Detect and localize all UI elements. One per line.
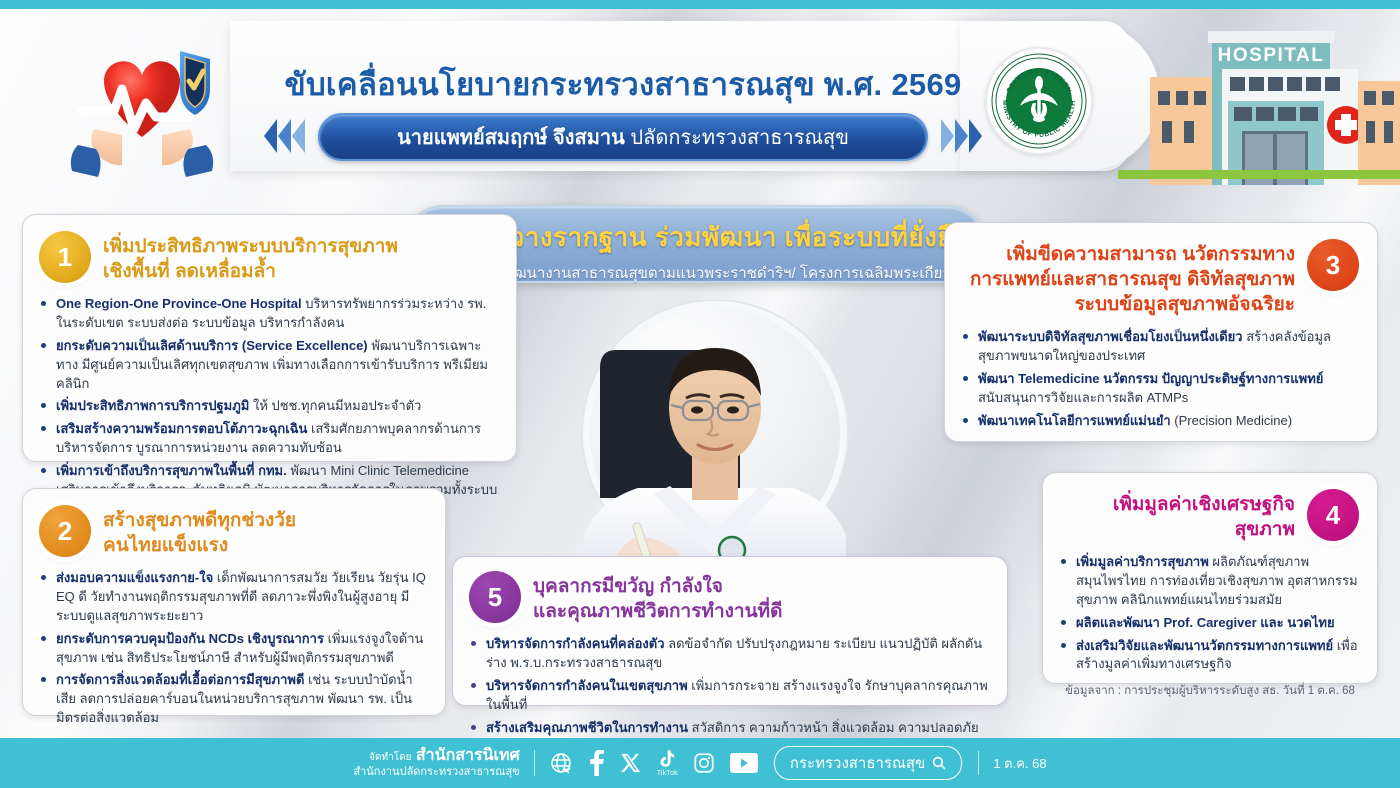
list-item: พัฒนาระบบดิจิทัลสุขภาพเชื่อมโยงเป็นหนึ่ง… (961, 328, 1359, 366)
card-number-badge-4: 4 (1307, 489, 1359, 541)
card-number-badge-2: 2 (39, 505, 91, 557)
chevron-left-icon (264, 119, 305, 153)
card-title-line: ระบบข้อมูลสุขภาพอัจฉริยะ (970, 292, 1295, 317)
card-title-3: เพิ่มขีดความสามารถ นวัตกรรมทาง การแพทย์แ… (970, 239, 1295, 317)
list-item: One Region-One Province-One Hospital บริ… (39, 295, 498, 333)
list-item: ยกระดับความเป็นเลิศด้านบริการ (Service E… (39, 337, 498, 394)
infographic-poster: ขับเคลื่อนนโยบายกระทรวงสาธารณสุข พ.ศ. 25… (0, 0, 1400, 788)
footer-org-sub: สำนักงานปลัดกระทรวงสาธารณสุข (353, 766, 519, 780)
list-item: ผลิตและพัฒนา Prof. Caregiver และ นวดไทย (1059, 614, 1359, 633)
youtube-icon[interactable] (730, 753, 758, 773)
list-item: พัฒนา Telemedicine นวัตกรรม ปัญญาประดิษฐ… (961, 370, 1359, 408)
card-header: 4 เพิ่มมูลค่าเชิงเศรษฐกิจสุขภาพ (1059, 489, 1359, 542)
footer-date: 1 ต.ค. 68 (993, 753, 1046, 774)
policy-card-1: 1 เพิ่มประสิทธิภาพระบบบริการสุขภาพ เชิงพ… (22, 214, 517, 462)
list-item: เสริมสร้างความพร้อมการตอบโต้ภาวะฉุกเฉิน … (39, 420, 498, 458)
card-title-5: บุคลากรมีขวัญ กำลังใจ และคุณภาพชีวิตการท… (533, 571, 782, 624)
card-bullet-list-3: พัฒนาระบบดิจิทัลสุขภาพเชื่อมโยงเป็นหนึ่ง… (961, 328, 1359, 430)
card-title-4: เพิ่มมูลค่าเชิงเศรษฐกิจสุขภาพ (1059, 489, 1295, 542)
speaker-pill: นายแพทย์สมฤกษ์ จึงสมาน ปลัดกระทรวงสาธารณ… (318, 113, 928, 161)
card-bullet-list-4: เพิ่มมูลค่าบริการสุขภาพ ผลิตภัณฑ์สุขภาพ … (1059, 553, 1359, 674)
search-pill-text: กระทรวงสาธารณสุข (790, 751, 925, 775)
instagram-icon[interactable] (693, 752, 715, 774)
card-title-line: สร้างสุขภาพดีทุกช่วงวัย (103, 508, 296, 533)
card-title-line: เพิ่มขีดความสามารถ นวัตกรรมทาง (970, 242, 1295, 267)
hospital-sign-text: HOSPITAL (1218, 45, 1325, 66)
policy-card-3: 3 เพิ่มขีดความสามารถ นวัตกรรมทาง การแพทย… (944, 222, 1378, 442)
card-title-line: เพิ่มมูลค่าเชิงเศรษฐกิจสุขภาพ (1059, 492, 1295, 542)
list-item: ส่งมอบความแข็งแรงกาย-ใจ เด็กพัฒนาการสมวั… (39, 569, 427, 626)
globe-icon[interactable] (549, 751, 573, 775)
search-icon (932, 756, 946, 770)
card-bullet-list-5: บริหารจัดการกำลังคนที่คล่องตัว ลดข้อจำกั… (469, 635, 989, 737)
list-item: พัฒนาเทคโนโลยีการแพทย์แม่นยำ (Precision … (961, 412, 1359, 431)
heart-shield-icon (42, 33, 232, 183)
card-title-line: เชิงพื้นที่ ลดเหลื่อมล้ำ (103, 259, 398, 284)
moph-seal-logo: กระทรวงสาธารณสุข MINISTRY OF PUBLIC HEAL… (985, 47, 1093, 155)
card-header: 5 บุคลากรมีขวัญ กำลังใจ และคุณภาพชีวิตกา… (469, 571, 989, 624)
card-bullet-list-2: ส่งมอบความแข็งแรงกาย-ใจ เด็กพัฒนาการสมวั… (39, 569, 427, 728)
header-green-bar (1118, 170, 1400, 179)
list-item: บริหารจัดการกำลังคนที่คล่องตัว ลดข้อจำกั… (469, 635, 989, 673)
footer-organization: จัดทำโดย สำนักสารนิเทศ สำนักงานปลัดกระทร… (353, 746, 519, 780)
card-title-line: การแพทย์และสาธารณสุข ดิจิทัลสุขภาพ (970, 267, 1295, 292)
tiktok-label: TikTok (657, 770, 678, 777)
policy-card-4: 4 เพิ่มมูลค่าเชิงเศรษฐกิจสุขภาพ เพิ่มมูล… (1042, 472, 1378, 684)
list-item: เพิ่มมูลค่าบริการสุขภาพ ผลิตภัณฑ์สุขภาพ … (1059, 553, 1359, 610)
list-item: บริหารจัดการกำลังคนในเขตสุขภาพ เพิ่มการก… (469, 677, 989, 715)
card-header: 1 เพิ่มประสิทธิภาพระบบบริการสุขภาพ เชิงพ… (39, 231, 498, 284)
poster-footer: จัดทำโดย สำนักสารนิเทศ สำนักงานปลัดกระทร… (0, 738, 1400, 788)
tiktok-icon[interactable]: TikTok (657, 750, 678, 777)
card-number-badge-3: 3 (1307, 239, 1359, 291)
footer-org-name: สำนักสารนิเทศ (416, 747, 520, 764)
speaker-name: นายแพทย์สมฤกษ์ จึงสมาน (397, 127, 625, 149)
list-item: เพิ่มประสิทธิภาพการบริการปฐมภูมิ ให้ ปชช… (39, 397, 498, 416)
speaker-role: ปลัดกระทรวงสาธารณสุข (625, 127, 849, 149)
footer-date-group: 1 ต.ค. 68 (978, 751, 1046, 775)
card-number-badge-5: 5 (469, 571, 521, 623)
card-title-line: คนไทยแข็งแรง (103, 533, 296, 558)
card-number-badge-1: 1 (39, 231, 91, 283)
card-header: 2 สร้างสุขภาพดีทุกช่วงวัย คนไทยแข็งแรง (39, 505, 427, 558)
card-header: 3 เพิ่มขีดความสามารถ นวัตกรรมทาง การแพทย… (961, 239, 1359, 317)
footer-divider (534, 750, 535, 776)
policy-card-5: 5 บุคลากรมีขวัญ กำลังใจ และคุณภาพชีวิตกา… (452, 556, 1008, 706)
poster-header: ขับเคลื่อนนโยบายกระทรวงสาธารณสุข พ.ศ. 25… (0, 9, 1400, 185)
facebook-icon[interactable] (588, 750, 605, 776)
card-title-2: สร้างสุขภาพดีทุกช่วงวัย คนไทยแข็งแรง (103, 505, 296, 558)
card-title-line: และคุณภาพชีวิตการทำงานที่ดี (533, 599, 782, 624)
poster-title: ขับเคลื่อนนโยบายกระทรวงสาธารณสุข พ.ศ. 25… (258, 59, 988, 109)
footer-social-icons: TikTok (549, 750, 758, 777)
hospital-illustration: HOSPITAL (1150, 25, 1400, 185)
search-pill[interactable]: กระทรวงสาธารณสุข (774, 746, 962, 780)
top-accent-bar (0, 0, 1400, 9)
chevron-right-icon (941, 119, 982, 153)
source-note: ข้อมูลจาก : การประชุมผู้บริหารระดับสูง ส… (1042, 682, 1378, 700)
card-bullet-list-1: One Region-One Province-One Hospital บริ… (39, 295, 498, 499)
card-title-line: เพิ่มประสิทธิภาพระบบบริการสุขภาพ (103, 234, 398, 259)
list-item: ยกระดับการควบคุมป้องกัน NCDs เชิงบูรณากา… (39, 630, 427, 668)
card-title-1: เพิ่มประสิทธิภาพระบบบริการสุขภาพ เชิงพื้… (103, 231, 398, 284)
card-title-line: บุคลากรมีขวัญ กำลังใจ (533, 574, 782, 599)
x-twitter-icon[interactable] (620, 752, 642, 774)
list-item: การจัดการสิ่งแวดล้อมที่เอื้อต่อการมีสุขภ… (39, 671, 427, 728)
list-item: ส่งเสริมวิจัยและพัฒนานวัตกรรมทางการแพทย์… (1059, 637, 1359, 675)
speaker-bar: นายแพทย์สมฤกษ์ จึงสมาน ปลัดกระทรวงสาธารณ… (258, 113, 988, 161)
executive-photo (520, 300, 910, 570)
list-item: สร้างเสริมคุณภาพชีวิตในการทำงาน สวัสดิกา… (469, 719, 989, 738)
footer-divider (978, 751, 979, 775)
footer-prefix: จัดทำโดย (369, 752, 411, 763)
policy-card-2: 2 สร้างสุขภาพดีทุกช่วงวัย คนไทยแข็งแรง ส… (22, 488, 446, 716)
